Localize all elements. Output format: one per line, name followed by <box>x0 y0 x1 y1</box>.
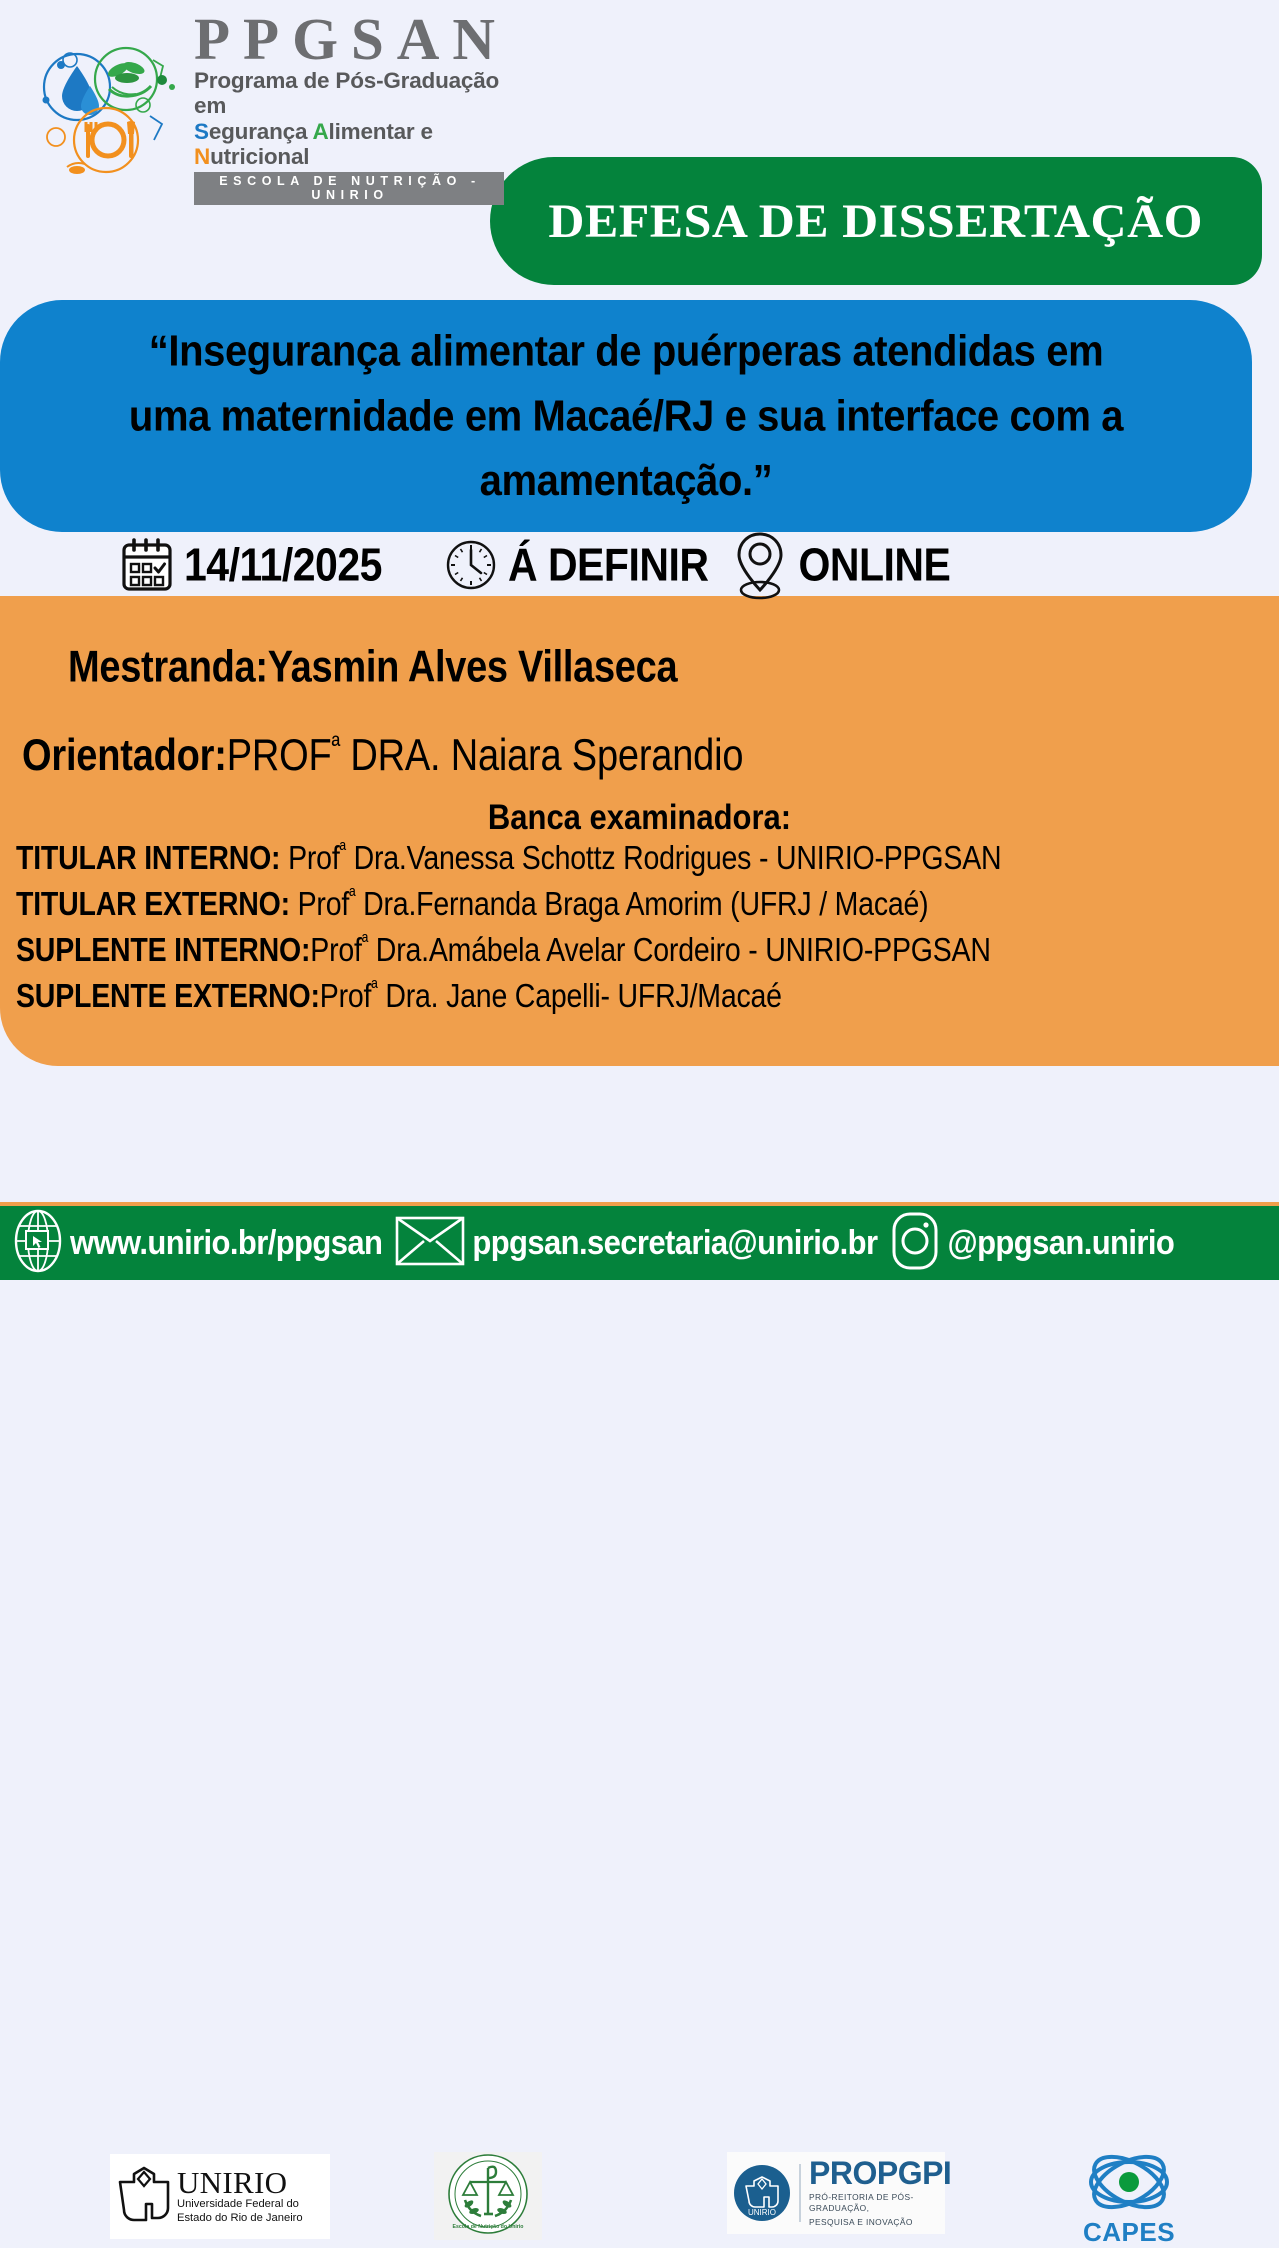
capes-name: CAPES <box>1083 2217 1175 2248</box>
location-pin-icon <box>732 530 788 600</box>
committee-prefix: Prof <box>310 931 361 969</box>
ppgsan-area-a: A <box>312 119 328 144</box>
propgpi-logo: UNIRIO PROPGPI PRÓ-REITORIA DE PÓS-GRADU… <box>727 2152 945 2234</box>
committee-row: TITULAR INTERNO: Profª Dra.Vanessa Schot… <box>16 840 1266 875</box>
committee-list: TITULAR INTERNO: Profª Dra.Vanessa Schot… <box>16 840 1266 1024</box>
ppgsan-logo: PPGSAN Programa de Pós-Graduação em Segu… <box>34 38 534 178</box>
propgpi-sub-line2: PESQUISA E INOVAÇÃO <box>809 2217 951 2228</box>
advisor-sup: ª <box>331 730 340 760</box>
propgpi-sub-line1: PRÓ-REITORIA DE PÓS-GRADUAÇÃO, <box>809 2192 951 2214</box>
contact-email-label: ppgsan.secretaria@unirio.br <box>472 1223 877 1263</box>
contact-website-label: www.unirio.br/ppgsan <box>70 1223 382 1263</box>
poster-root: PPGSAN Programa de Pós-Graduação em Segu… <box>0 0 1279 1280</box>
committee-prefix: Prof <box>320 977 371 1015</box>
defense-banner-label: DEFESA DE DISSERTAÇÃO <box>549 194 1204 249</box>
contact-email[interactable]: ppgsan.secretaria@unirio.br <box>394 1212 877 1275</box>
committee-name: Dra.Fernanda Braga Amorim (UFRJ / Macaé) <box>355 885 928 923</box>
event-date: 14/11/2025 <box>120 537 382 593</box>
committee-row: SUPLENTE EXTERNO:Profª Dra. Jane Capelli… <box>16 978 1266 1013</box>
student-line: Mestranda:Yasmin Alves Villaseca <box>68 643 677 693</box>
propgpi-unirio-seal-icon: UNIRIO <box>733 2164 791 2222</box>
committee-name: Dra.Vanessa Schottz Rodrigues - UNIRIO-P… <box>346 839 1002 877</box>
contact-instagram[interactable]: @ppgsan.unirio <box>889 1210 1174 1277</box>
ppgsan-area-s: S <box>194 119 209 144</box>
calendar-icon <box>120 537 174 593</box>
ppgsan-area-n: N <box>194 144 210 169</box>
committee-role: TITULAR EXTERNO: <box>16 885 290 923</box>
ppgsan-program-line: Programa de Pós-Graduação em <box>194 68 534 118</box>
thesis-title-block: “Insegurança alimentar de puérperas aten… <box>0 300 1252 532</box>
ppgsan-logo-text: PPGSAN Programa de Pós-Graduação em Segu… <box>194 11 534 205</box>
propgpi-text: PROPGPI PRÓ-REITORIA DE PÓS-GRADUAÇÃO, P… <box>809 2158 951 2227</box>
committee-row: SUPLENTE INTERNO:Profª Dra.Amábela Avela… <box>16 932 1266 967</box>
event-meta-row: 14/11/2025 Á DEFINIR <box>0 532 1279 598</box>
committee-title: Banca examinadora: <box>0 797 1279 838</box>
event-time-label: Á DEFINIR <box>508 539 709 592</box>
footer-logo-strip: UNIRIO Universidade Federal do Estado do… <box>0 1066 1279 1202</box>
escola-nutricao-logo: Escola de Nutrição do Unirio <box>434 2152 542 2240</box>
clock-icon <box>444 537 498 593</box>
unirio-desc-line2: Estado do Rio de Janeiro <box>177 2212 303 2226</box>
unirio-logo: UNIRIO Universidade Federal do Estado do… <box>110 2154 330 2239</box>
contact-website[interactable]: www.unirio.br/ppgsan <box>12 1209 382 1278</box>
propgpi-divider <box>799 2164 801 2222</box>
contact-instagram-label: @ppgsan.unirio <box>947 1223 1174 1263</box>
ppgsan-area-alimentar: limentar e <box>329 119 433 144</box>
envelope-icon <box>394 1212 466 1275</box>
ppgsan-logo-mark <box>34 42 184 174</box>
advisor-line: Orientador:PROFª DRA. Naiara Sperandio <box>22 730 743 782</box>
advisor-prefix: PROF <box>227 732 332 781</box>
event-date-label: 14/11/2025 <box>184 539 382 592</box>
event-place: ONLINE <box>732 530 950 600</box>
advisor-label: Orientador: <box>22 732 227 781</box>
committee-name: Dra. Jane Capelli- UFRJ/Macaé <box>378 977 782 1015</box>
committee-row: TITULAR EXTERNO: Profª Dra.Fernanda Brag… <box>16 886 1266 921</box>
advisor-name: DRA. Naiara Sperandio <box>340 732 743 781</box>
ppgsan-area-seguranca: egurança <box>209 119 313 144</box>
unirio-desc-line1: Universidade Federal do <box>177 2198 303 2212</box>
unirio-text: UNIRIO Universidade Federal do Estado do… <box>177 2168 303 2226</box>
unirio-mark-icon <box>116 2166 172 2228</box>
defense-banner: DEFESA DE DISSERTAÇÃO <box>490 157 1262 285</box>
student-label: Mestranda: <box>68 643 268 692</box>
committee-name: Dra.Amábela Avelar Cordeiro - UNIRIO-PPG… <box>368 931 991 969</box>
capes-logo: CAPES <box>1070 2148 1188 2243</box>
contact-bar: www.unirio.br/ppgsan ppgsan.secretaria@u… <box>0 1202 1279 1280</box>
globe-icon <box>12 1209 64 1278</box>
committee-role: SUPLENTE INTERNO: <box>16 931 310 969</box>
ppgsan-acronym: PPGSAN <box>194 11 534 67</box>
thesis-title-text: “Insegurança alimentar de puérperas aten… <box>106 319 1146 513</box>
ppgsan-area-line: Segurança Alimentar e Nutricional <box>194 119 534 169</box>
escola-nutricao-seal-icon: Escola de Nutrição do Unirio <box>445 2152 531 2241</box>
capes-mark-icon <box>1074 2148 1184 2219</box>
committee-role: TITULAR INTERNO: <box>16 839 280 877</box>
unirio-name: UNIRIO <box>177 2168 303 2198</box>
event-time: Á DEFINIR <box>444 537 709 593</box>
committee-prefix: Prof <box>290 885 349 923</box>
committee-prefix: Prof <box>280 839 339 877</box>
ppgsan-school-band: ESCOLA DE NUTRIÇÃO - UNIRIO <box>194 172 504 205</box>
svg-text:UNIRIO: UNIRIO <box>748 2208 776 2217</box>
event-place-label: ONLINE <box>798 539 950 592</box>
propgpi-name: PROPGPI <box>809 2158 951 2188</box>
svg-text:Escola de Nutrição do Unirio: Escola de Nutrição do Unirio <box>453 2224 524 2230</box>
ppgsan-area-nutricional: utricional <box>210 144 309 169</box>
committee-role: SUPLENTE EXTERNO: <box>16 977 320 1015</box>
student-name: Yasmin Alves Villaseca <box>268 643 678 692</box>
instagram-icon <box>889 1210 941 1277</box>
